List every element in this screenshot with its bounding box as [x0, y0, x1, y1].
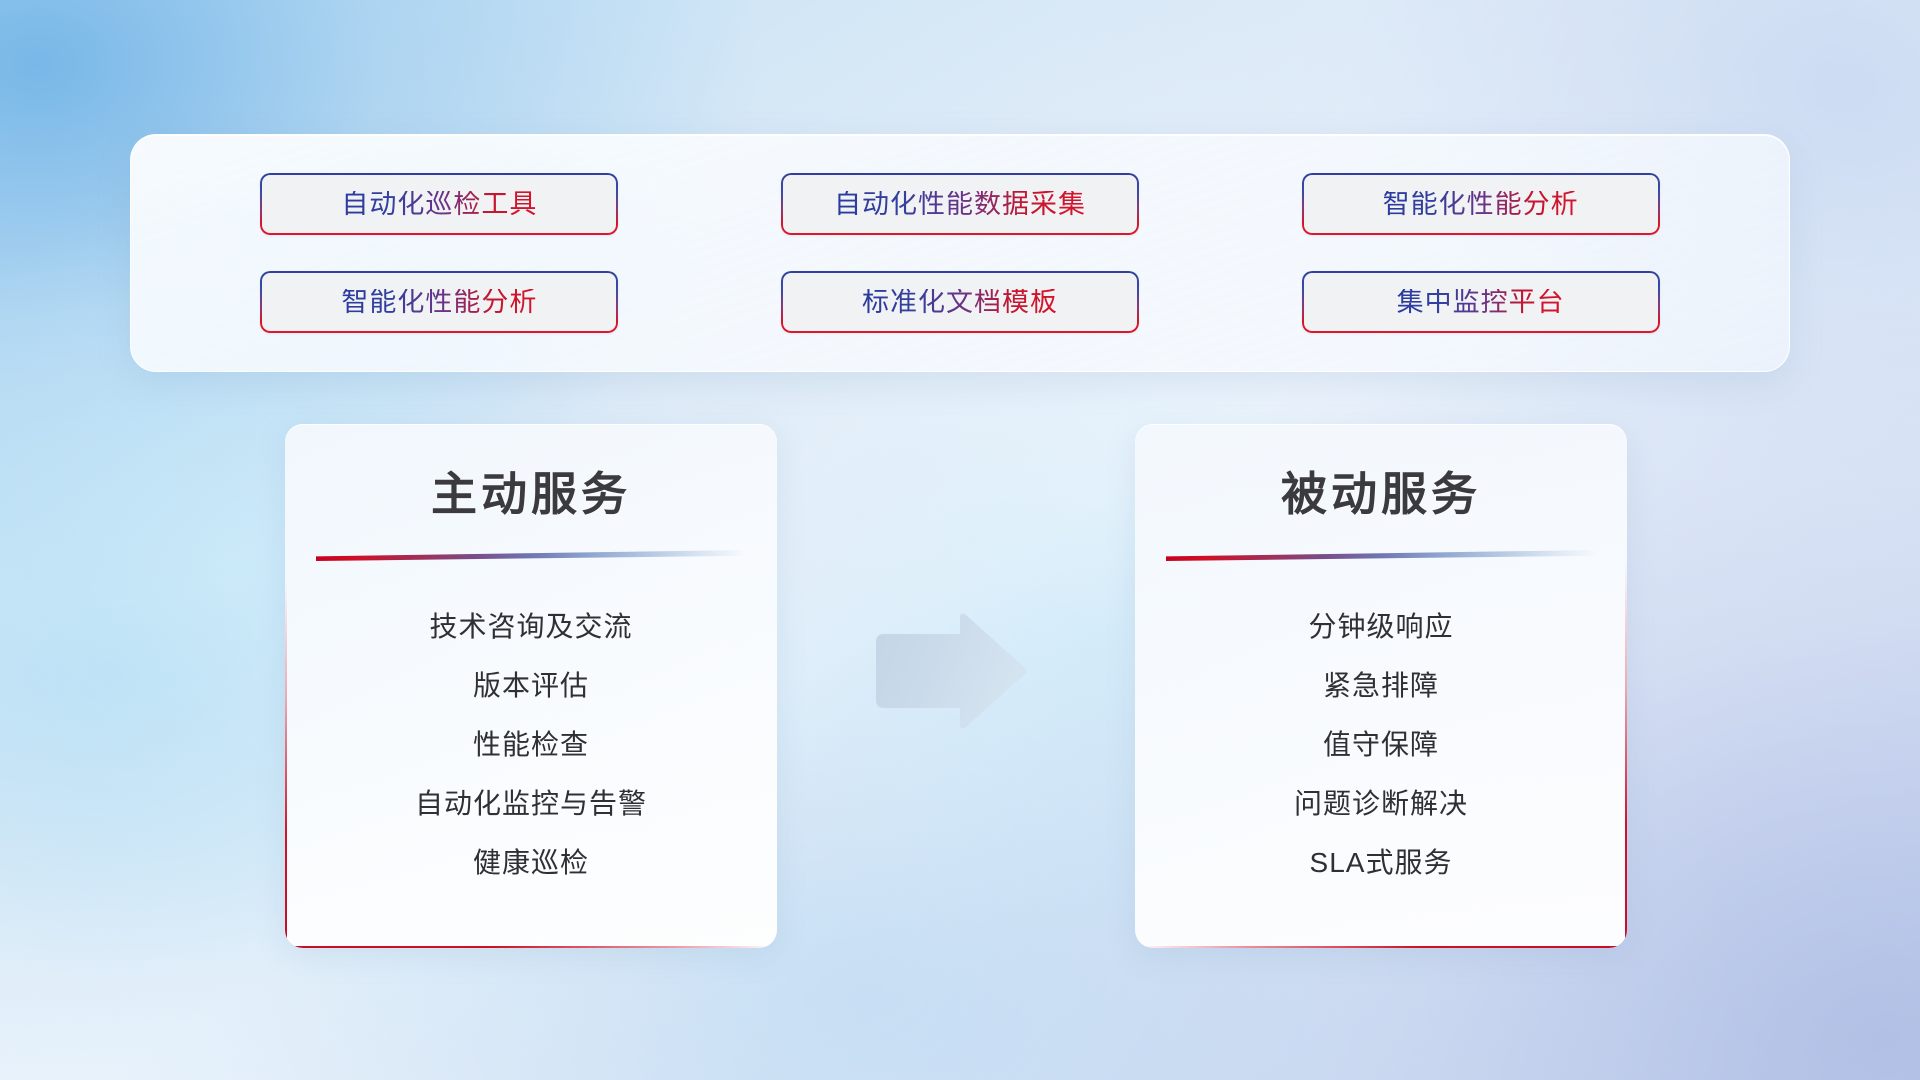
card-title: 主动服务: [285, 458, 777, 524]
capability-pill-label: 智能化性能分析: [341, 289, 537, 316]
list-item: 版本评估: [473, 654, 589, 713]
list-item: 值守保障: [1323, 713, 1439, 772]
capability-pill[interactable]: 标准化文档模板: [781, 271, 1139, 333]
service-card-reactive: 被动服务 分钟级响应 紧急排障 值守保障 问题诊断解决 SLA式服务: [1135, 424, 1627, 948]
slide-canvas: 自动化巡检工具 自动化性能数据采集 智能化性能分析 智能化性能分析 标准化文档模…: [0, 0, 1920, 1080]
list-item: 健康巡检: [473, 831, 589, 890]
title-gradient-rule: [316, 550, 746, 561]
capability-pill[interactable]: 自动化性能数据采集: [781, 173, 1139, 235]
capability-pill[interactable]: 集中监控平台: [1302, 271, 1660, 333]
list-item: SLA式服务: [1310, 831, 1453, 890]
card-accent-edge-bottom: [285, 946, 777, 948]
capability-panel: 自动化巡检工具 自动化性能数据采集 智能化性能分析 智能化性能分析 标准化文档模…: [130, 134, 1790, 372]
capability-pill-label: 标准化文档模板: [862, 289, 1058, 316]
list-item: 自动化监控与告警: [415, 772, 647, 831]
capability-pill-label: 集中监控平台: [1397, 289, 1565, 316]
list-item: 性能检查: [473, 713, 589, 772]
service-card-proactive: 主动服务 技术咨询及交流 版本评估 性能检查 自动化监控与告警 健康巡检: [285, 424, 777, 948]
list-item: 紧急排障: [1323, 654, 1439, 713]
capability-pill-label: 自动化性能数据采集: [834, 191, 1086, 218]
service-item-list: 技术咨询及交流 版本评估 性能检查 自动化监控与告警 健康巡检: [285, 595, 777, 890]
service-item-list: 分钟级响应 紧急排障 值守保障 问题诊断解决 SLA式服务: [1135, 595, 1627, 890]
capability-pill-label: 智能化性能分析: [1383, 191, 1579, 218]
capability-pill[interactable]: 智能化性能分析: [260, 271, 618, 333]
list-item: 技术咨询及交流: [429, 595, 632, 654]
list-item: 问题诊断解决: [1294, 772, 1468, 831]
card-accent-edge-bottom: [1135, 946, 1627, 948]
capability-pill[interactable]: 智能化性能分析: [1302, 173, 1660, 235]
arrow-right-icon: [870, 612, 1030, 730]
list-item: 分钟级响应: [1308, 595, 1453, 654]
card-title: 被动服务: [1135, 458, 1627, 524]
title-gradient-rule: [1166, 550, 1596, 561]
capability-pill-label: 自动化巡检工具: [341, 191, 537, 218]
capability-pill[interactable]: 自动化巡检工具: [260, 173, 618, 235]
capability-pill-grid: 自动化巡检工具 自动化性能数据采集 智能化性能分析 智能化性能分析 标准化文档模…: [179, 173, 1741, 333]
